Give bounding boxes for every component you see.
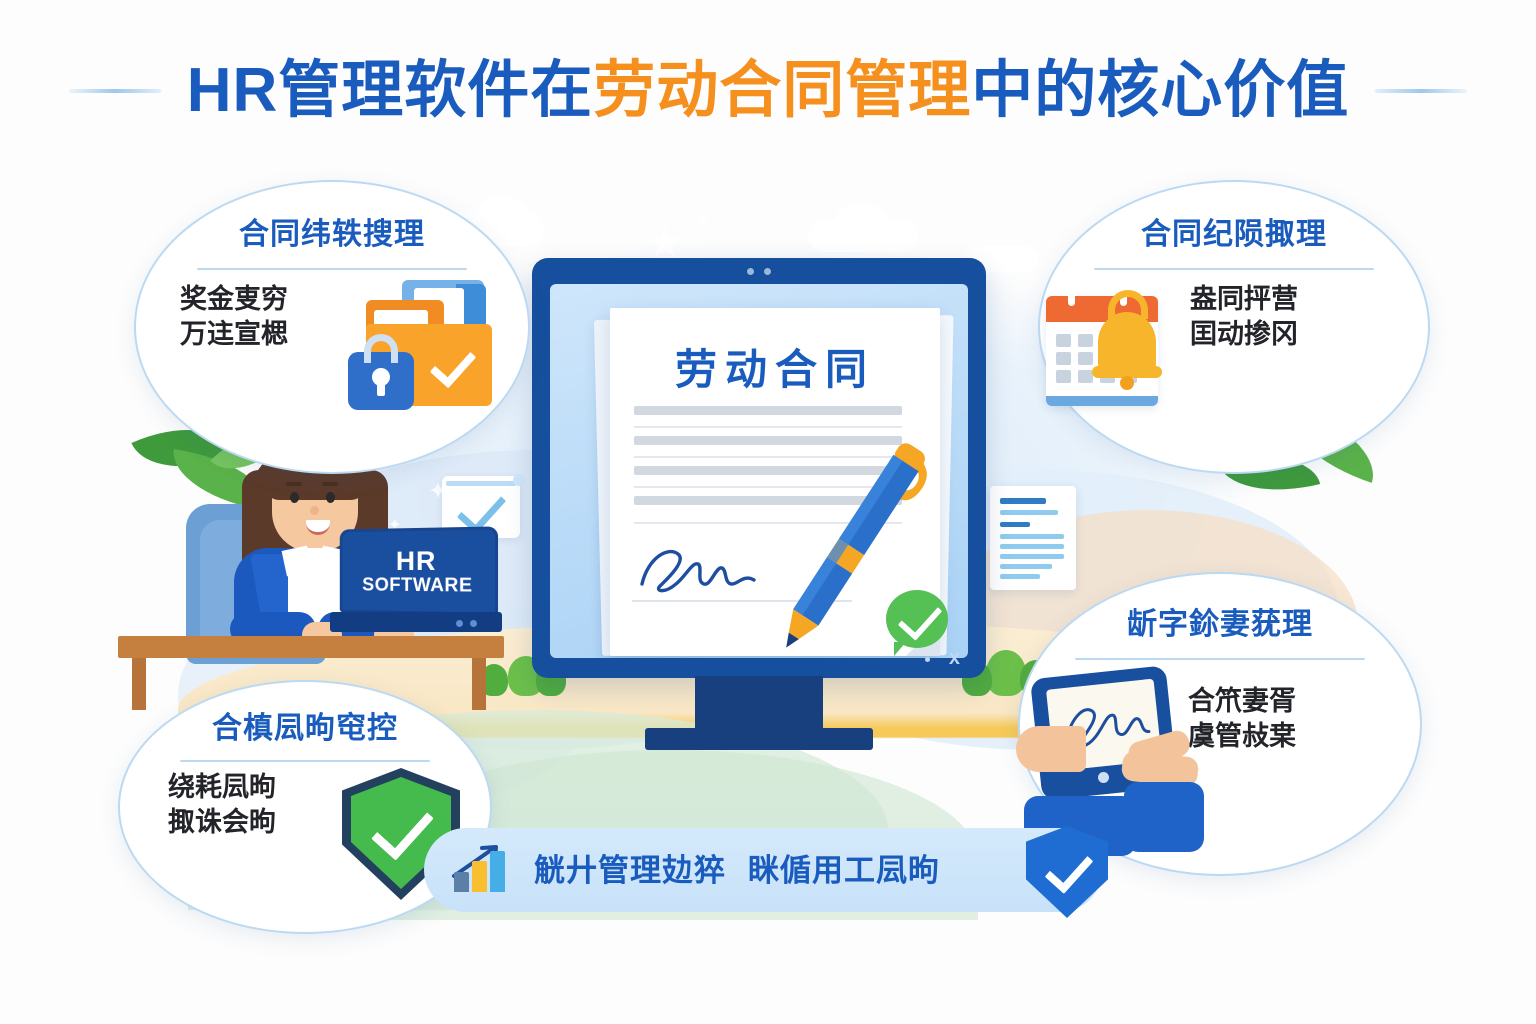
feature-divider (1094, 268, 1374, 270)
title-rule-right (1375, 89, 1467, 93)
feature-title: 龂字鉩妻莸理 (1127, 610, 1313, 640)
feature-divider (1075, 658, 1365, 660)
laptop-label-line1: HR (396, 547, 436, 574)
summary-banner: 觥廾管理攰猝 眯偱用工凨昫 (424, 828, 1102, 912)
feature-card-contract-unified-management[interactable]: 合同纬轶搜理 奖金叓穷 万迬宣楒 (134, 180, 530, 474)
eye (326, 492, 335, 503)
star-icon: ✦ (694, 212, 711, 232)
banner-text-right: 眯偱用工凨昫 (748, 855, 940, 886)
feature-body-line2: 虞管敊枽 (1188, 719, 1296, 754)
feature-body-line2: 万迬宣楒 (180, 317, 288, 352)
monitor-stand (695, 676, 823, 734)
cloud-icon (834, 204, 890, 244)
feature-divider (197, 268, 467, 270)
feature-body-line1: 合笊妻胥 (1188, 684, 1296, 719)
feature-title: 合槙凨昫窀控 (212, 714, 398, 744)
feature-divider (180, 760, 430, 762)
illustration-scene: ★ ✦ ✦ ✦ ✦ ✦ ✦ (118, 150, 1418, 940)
feature-body-line1: 盎同抨营 (1190, 282, 1298, 317)
title-prefix: HR管理软件在 (187, 56, 594, 125)
title-highlight: 劳动合同管理 (593, 56, 971, 125)
title-text: HR管理软件在劳动合同管理中的核心价值 (187, 60, 1350, 122)
contract-title: 劳动合同 (610, 336, 940, 397)
banner-text-left: 觥廾管理攰猝 (534, 855, 726, 886)
signature (634, 540, 784, 600)
bubble-bar (446, 481, 516, 486)
desk-leg (132, 658, 146, 710)
feature-body-line1: 奖金叓穷 (180, 282, 288, 317)
page-title: HR管理软件在劳动合同管理中的核心价值 (0, 52, 1536, 130)
folder-lock-icon (344, 274, 514, 412)
sleeve (1124, 782, 1204, 852)
laptop-label-line2: SOFTWARE (362, 575, 472, 595)
feature-body-line2: 掫诛会昫 (168, 805, 276, 840)
bar-chart-up-icon (450, 844, 512, 896)
monitor-screen: 劳动合同 (550, 284, 968, 658)
approved-check-bubble-icon (886, 590, 948, 648)
feature-card-contract-expiry-management[interactable]: 合同纪陨掫理 盎同抨营 囯动掺冈 (1038, 180, 1430, 474)
close-icon[interactable]: x (949, 648, 960, 668)
monitor: 劳动合同 (532, 258, 986, 678)
bubble-pin (513, 474, 525, 486)
monitor-base (645, 728, 873, 750)
desk-surface (118, 636, 504, 658)
eyebrow (322, 482, 338, 486)
title-rule-left (69, 89, 161, 93)
title-suffix: 中的核心价值 (971, 56, 1349, 125)
hand (1016, 726, 1086, 772)
document-icon (990, 486, 1076, 590)
laptop: HR SOFTWARE (330, 528, 498, 634)
desk-leg (472, 658, 486, 710)
laptop-screen: HR SOFTWARE (340, 526, 498, 615)
infographic-canvas: HR管理软件在劳动合同管理中的核心价值 ★ ✦ ✦ ✦ ✦ ✦ ✦ (0, 0, 1536, 1024)
webcam-dots (747, 268, 771, 275)
feature-card-electronic-signature-management[interactable]: 龂字鉩妻莸理 合笊妻胥 虞管敊枽 (1018, 572, 1422, 876)
feature-body-line2: 囯动掺冈 (1190, 317, 1298, 352)
feature-body-line1: 绕耗凨昫 (168, 770, 276, 805)
eyebrow (286, 482, 302, 486)
calendar-bell-icon (1046, 286, 1186, 412)
nose (310, 506, 319, 515)
laptop-dot (456, 620, 463, 627)
monitor-indicator (925, 657, 930, 662)
feature-title: 合同纪陨掫理 (1141, 220, 1327, 250)
laptop-dot (470, 620, 477, 627)
eye (290, 492, 299, 503)
feature-title: 合同纬轶搜理 (239, 220, 425, 250)
